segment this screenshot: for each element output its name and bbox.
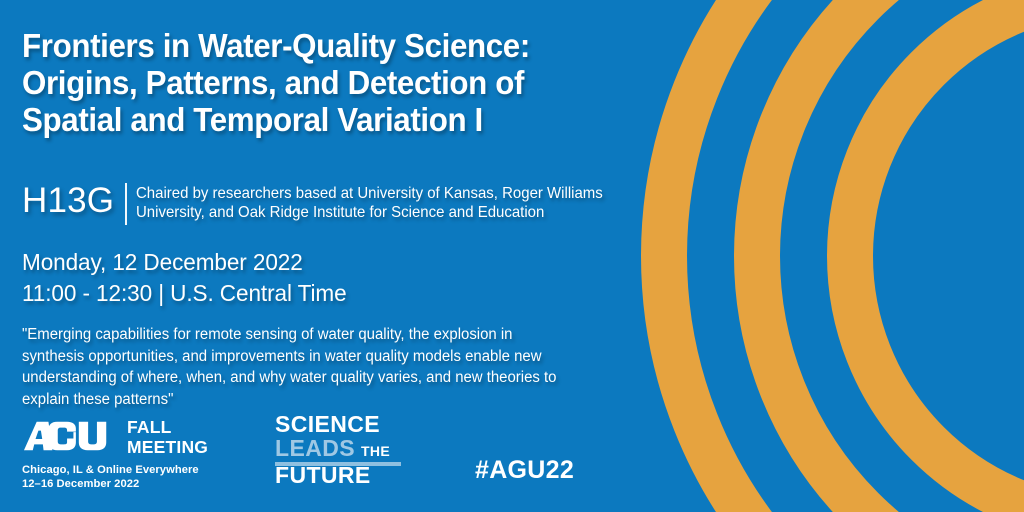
tagline-the: THE: [361, 439, 390, 463]
agu-location: Chicago, IL & Online Everywhere: [22, 463, 227, 477]
footer-branding: FALL MEETING Chicago, IL & Online Everyw…: [22, 418, 662, 498]
chair-affiliations: Chaired by researchers based at Universi…: [136, 184, 659, 222]
session-promo-card: Frontiers in Water-Quality Science: Orig…: [0, 0, 1024, 512]
tagline-science: SCIENCE: [275, 412, 405, 436]
session-time: 11:00 - 12:30 | U.S. Central Time: [22, 278, 347, 309]
tagline-leads: LEADS: [275, 436, 355, 460]
description-line-4: explain these patterns": [22, 389, 651, 411]
title-line-2: Origins, Patterns, and Detection of: [22, 65, 639, 102]
agu-dates: 12–16 December 2022: [22, 477, 227, 491]
meeting-label: MEETING: [127, 439, 208, 457]
vertical-divider: [125, 183, 127, 225]
chair-line-2: University, and Oak Ridge Institute for …: [136, 203, 659, 222]
page-title: Frontiers in Water-Quality Science: Orig…: [22, 28, 639, 139]
science-leads-the-future-logo: SCIENCE LEADS THE FUTURE: [275, 412, 405, 487]
session-datetime: Monday, 12 December 2022 11:00 - 12:30 |…: [22, 247, 347, 309]
description-line-3: understanding of where, when, and why wa…: [22, 367, 651, 389]
fall-label: FALL: [127, 419, 208, 437]
session-id-and-chairs: H13G Chaired by researchers based at Uni…: [22, 181, 702, 225]
arc-middle: [757, 0, 1024, 512]
description-line-2: synthesis opportunities, and improvement…: [22, 346, 651, 368]
arc-inner: [850, 0, 1024, 512]
session-date: Monday, 12 December 2022: [22, 247, 347, 278]
agu-logo-subtitle: Chicago, IL & Online Everywhere 12–16 De…: [22, 463, 227, 491]
session-id: H13G: [22, 181, 114, 221]
description-line-1: "Emerging capabilities for remote sensin…: [22, 324, 651, 346]
title-line-3: Spatial and Temporal Variation I: [22, 102, 639, 139]
session-description: "Emerging capabilities for remote sensin…: [22, 324, 651, 410]
event-hashtag: #AGU22: [475, 456, 574, 485]
tagline-future: FUTURE: [275, 463, 405, 487]
agu-wordmark-icon: [22, 418, 118, 454]
chair-line-1: Chaired by researchers based at Universi…: [136, 184, 659, 203]
agu-fall-meeting-logo: FALL MEETING Chicago, IL & Online Everyw…: [22, 418, 227, 490]
tagline-leads-the: LEADS THE: [275, 436, 405, 463]
tagline-underline-bar: [275, 462, 401, 466]
fall-meeting-wordmark: FALL MEETING: [127, 419, 208, 457]
arc-outer: [664, 0, 1024, 512]
title-line-1: Frontiers in Water-Quality Science:: [22, 28, 639, 65]
